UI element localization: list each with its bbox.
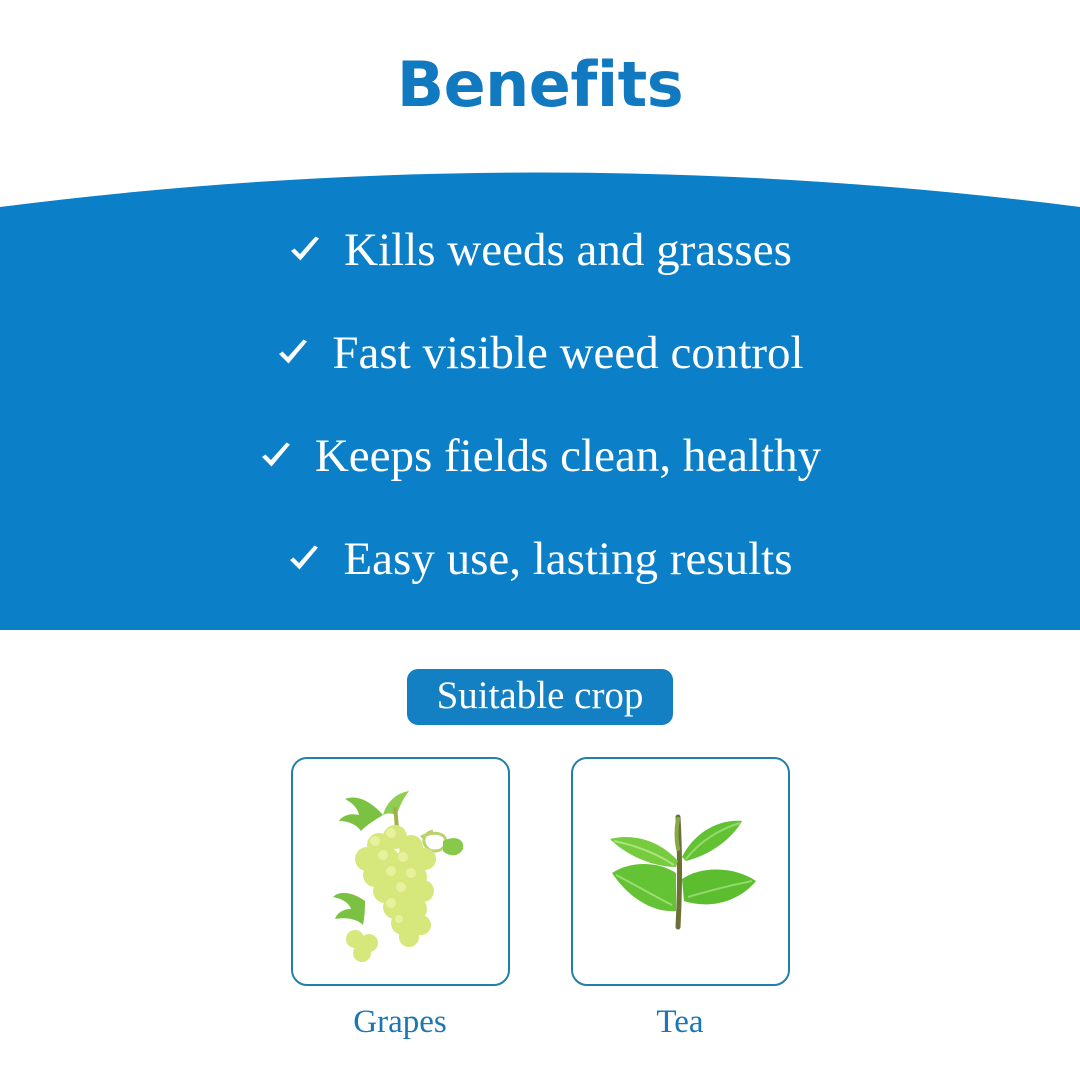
- page-title: Benefits: [0, 50, 1080, 120]
- crop-cell-tea: Tea: [568, 757, 793, 1041]
- benefit-item-label: Easy use, lasting results: [343, 531, 792, 587]
- suitable-crop-badge: Suitable crop: [407, 669, 674, 725]
- check-icon: [288, 233, 322, 267]
- benefits-infographic: Benefits Kills weeds and grasses Fast vi…: [0, 0, 1080, 1080]
- benefit-item: Easy use, lasting results: [0, 531, 1080, 587]
- benefit-item: Keeps fields clean, healthy: [0, 428, 1080, 484]
- benefit-item: Kills weeds and grasses: [0, 222, 1080, 278]
- crop-label-tea: Tea: [656, 1003, 703, 1041]
- benefit-item: Fast visible weed control: [0, 325, 1080, 381]
- benefits-banner: Kills weeds and grasses Fast visible wee…: [0, 150, 1080, 630]
- benefit-item-label: Fast visible weed control: [332, 325, 803, 381]
- tea-leaf-icon: [590, 799, 770, 944]
- grapes-icon: [325, 779, 475, 964]
- crop-cell-grapes: Grapes: [288, 757, 513, 1041]
- crop-label-grapes: Grapes: [353, 1003, 446, 1041]
- crop-card-grapes[interactable]: [291, 757, 510, 986]
- benefits-list: Kills weeds and grasses Fast visible wee…: [0, 150, 1080, 630]
- benefit-item-label: Keeps fields clean, healthy: [315, 428, 821, 484]
- benefit-item-label: Kills weeds and grasses: [344, 222, 792, 278]
- check-icon: [287, 542, 321, 576]
- crop-card-tea[interactable]: [571, 757, 790, 986]
- check-icon: [276, 336, 310, 370]
- suitable-crop-cards: Grapes: [0, 757, 1080, 1041]
- suitable-crop-badge-row: Suitable crop: [0, 669, 1080, 725]
- check-icon: [259, 439, 293, 473]
